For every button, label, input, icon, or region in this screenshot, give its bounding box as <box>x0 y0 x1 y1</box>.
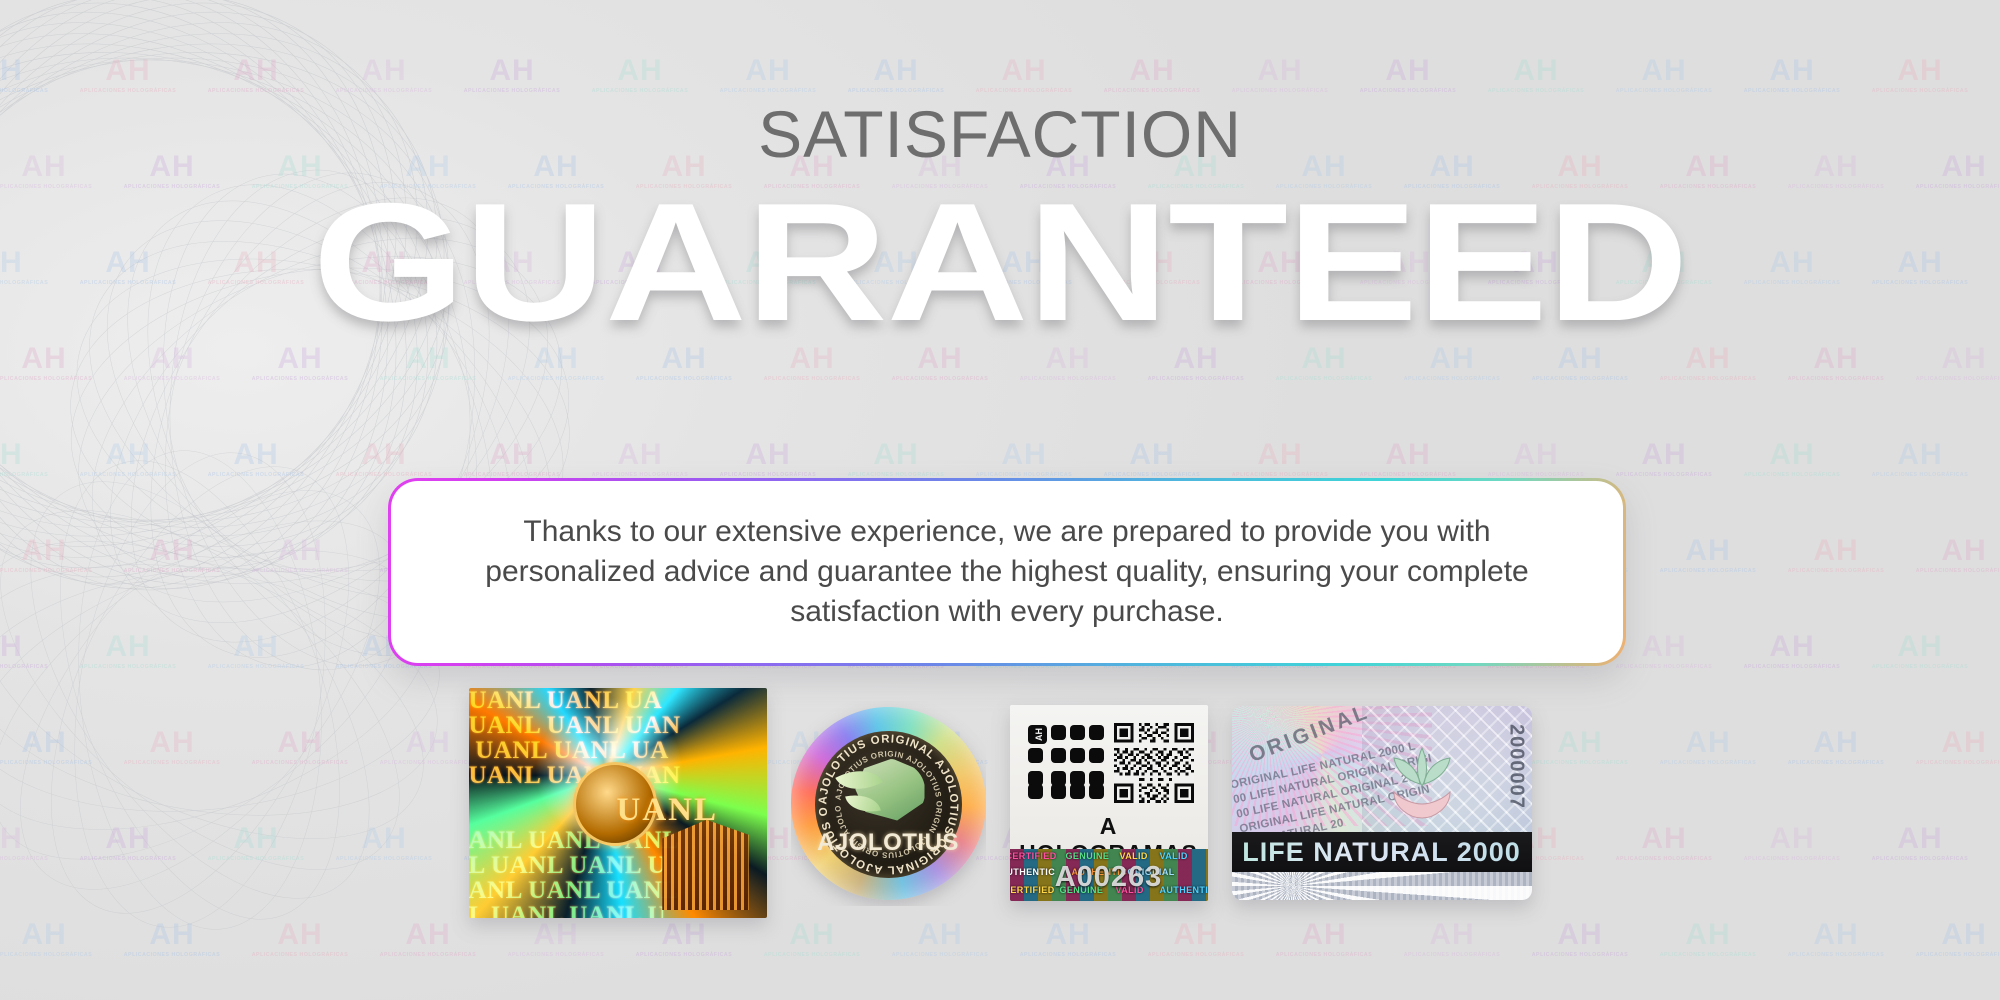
ah-watermark-mark: AH <box>1388 920 1516 950</box>
ah-watermark-caption: APLICACIONES HOLOGRÁFICAS <box>1900 953 2000 958</box>
ah-watermark: AHAPLICACIONES HOLOGRÁFICAS <box>492 920 620 958</box>
ah-watermark-caption: APLICACIONES HOLOGRÁFICAS <box>876 377 1004 382</box>
ah-watermark-caption: APLICACIONES HOLOGRÁFICAS <box>1984 665 2000 670</box>
ah-watermark-caption: APLICACIONES HOLOGRÁFICAS <box>1984 89 2000 94</box>
security-word-3: VALID <box>1160 851 1188 861</box>
ah-watermark-caption: APLICACIONES HOLOGRÁFICAS <box>1728 89 1856 94</box>
ah-watermark-caption: APLICACIONES HOLOGRÁFICAS <box>832 89 960 94</box>
ah-watermark: AHAPLICACIONES HOLOGRÁFICAS <box>1900 536 2000 574</box>
ah-watermark: AHAPLICACIONES HOLOGRÁFICAS <box>236 536 364 574</box>
ah-watermark: AHAPLICACIONES HOLOGRÁFICAS <box>64 440 192 478</box>
ah-watermark-mark: AH <box>1472 440 1600 470</box>
ah-watermark-caption: APLICACIONES HOLOGRÁFICAS <box>1388 953 1516 958</box>
ah-watermark: AHAPLICACIONES HOLOGRÁFICAS <box>108 536 236 574</box>
ah-watermark-mark: AH <box>1984 632 2000 662</box>
ah-watermark-mark: AH <box>0 536 108 566</box>
life-natural-glitter-strip <box>1232 872 1532 900</box>
ah-watermark-mark: AH <box>0 56 64 86</box>
ah-watermark-caption: APLICACIONES HOLOGRÁFICAS <box>748 377 876 382</box>
ah-watermark-caption: APLICACIONES HOLOGRÁFICAS <box>1984 473 2000 478</box>
ah-watermark-caption: APLICACIONES HOLOGRÁFICAS <box>748 953 876 958</box>
ah-watermark: AHAPLICACIONES HOLOGRÁFICAS <box>0 56 64 94</box>
ah-watermark-row: AHAPLICACIONES HOLOGRÁFICASAHAPLICACIONE… <box>0 56 2000 94</box>
ah-watermark-mark: AH <box>1600 440 1728 470</box>
ah-watermark-caption: APLICACIONES HOLOGRÁFICAS <box>1472 89 1600 94</box>
ah-watermark-caption: APLICACIONES HOLOGRÁFICAS <box>1088 89 1216 94</box>
ah-watermark-mark: AH <box>1600 56 1728 86</box>
ah-watermark: AHAPLICACIONES HOLOGRÁFICAS <box>960 440 1088 478</box>
ah-watermark: AHAPLICACIONES HOLOGRÁFICAS <box>1856 440 1984 478</box>
ajolotius-brand-label: AJOLOTIUS <box>791 829 986 857</box>
ah-watermark-mark: AH <box>576 56 704 86</box>
ah-watermark: AHAPLICACIONES HOLOGRÁFICAS <box>876 920 1004 958</box>
ah-watermark: AHAPLICACIONES HOLOGRÁFICAS <box>364 920 492 958</box>
ah-watermark: AHAPLICACIONES HOLOGRÁFICAS <box>320 440 448 478</box>
ah-watermark-caption: APLICACIONES HOLOGRÁFICAS <box>0 665 64 670</box>
ah-watermark-caption: APLICACIONES HOLOGRÁFICAS <box>1856 89 1984 94</box>
ah-watermark-caption: APLICACIONES HOLOGRÁFICAS <box>704 89 832 94</box>
ah-watermark-mark: AH <box>448 56 576 86</box>
ah-watermark-caption: APLICACIONES HOLOGRÁFICAS <box>108 569 236 574</box>
ah-watermark-mark: AH <box>320 56 448 86</box>
ajolotius-hologram[interactable]: AJOLOTIUS ORIGINAL AJOLOTIUS ORIGINAL AJ… <box>791 701 986 906</box>
ah-watermark-mark: AH <box>704 440 832 470</box>
ah-watermark-mark: AH <box>492 920 620 950</box>
uanl-hologram[interactable]: UANL UANL UA UANL UANL UAN UANL UANL UA … <box>469 688 767 918</box>
ah-watermark-caption: APLICACIONES HOLOGRÁFICAS <box>1344 89 1472 94</box>
life-natural-serial: 2000007 <box>1505 724 1528 809</box>
ah-watermark-mark: AH <box>1772 344 1900 374</box>
ah-watermark-mark: AH <box>0 440 64 470</box>
ah-watermark-caption: APLICACIONES HOLOGRÁFICAS <box>108 953 236 958</box>
ah-watermark-mark: AH <box>108 920 236 950</box>
ah-watermark: AHAPLICACIONES HOLOGRÁFICAS <box>1600 440 1728 478</box>
ah-watermark: AHAPLICACIONES HOLOGRÁFICAS <box>1900 920 2000 958</box>
ah-watermark-mark: AH <box>1900 920 2000 950</box>
ah-watermark-mark: AH <box>832 56 960 86</box>
ah-watermark: AHAPLICACIONES HOLOGRÁFICAS <box>448 440 576 478</box>
ah-watermark-caption: APLICACIONES HOLOGRÁFICAS <box>876 953 1004 958</box>
ah-watermark-caption: APLICACIONES HOLOGRÁFICAS <box>236 953 364 958</box>
ah-watermark: AHAPLICACIONES HOLOGRÁFICAS <box>620 920 748 958</box>
ah-watermark: AHAPLICACIONES HOLOGRÁFICAS <box>1984 56 2000 94</box>
ah-watermark-caption: APLICACIONES HOLOGRÁFICAS <box>192 665 320 670</box>
security-word-0: CERTIFIED <box>1010 851 1057 861</box>
ah-watermark: AHAPLICACIONES HOLOGRÁFICAS <box>1728 440 1856 478</box>
ah-watermark-caption: APLICACIONES HOLOGRÁFICAS <box>448 89 576 94</box>
ah-watermark-mark: AH <box>704 56 832 86</box>
ah-watermark-mark: AH <box>0 632 64 662</box>
plant-in-hand-icon <box>1382 740 1462 824</box>
ah-watermark-mark: AH <box>1004 920 1132 950</box>
banner-stage: AHAPLICACIONES HOLOGRÁFICASAHAPLICACIONE… <box>0 0 2000 1000</box>
guarantee-card: Thanks to our extensive experience, we a… <box>388 478 1626 666</box>
ah-watermark-mark: AH <box>748 920 876 950</box>
ah-watermark: AHAPLICACIONES HOLOGRÁFICAS <box>320 56 448 94</box>
ah-watermark: AHAPLICACIONES HOLOGRÁFICAS <box>64 632 192 670</box>
ah-watermark-caption: APLICACIONES HOLOGRÁFICAS <box>192 473 320 478</box>
ah-watermark-caption: APLICACIONES HOLOGRÁFICAS <box>576 89 704 94</box>
ah-watermark-caption: APLICACIONES HOLOGRÁFICAS <box>0 89 64 94</box>
ah-watermark: AHAPLICACIONES HOLOGRÁFICAS <box>1472 440 1600 478</box>
ah-watermark: AHAPLICACIONES HOLOGRÁFICAS <box>0 632 64 670</box>
life-natural-brand-bar: LIFE NATURAL 2000 <box>1232 832 1532 872</box>
ah-watermark-caption: APLICACIONES HOLOGRÁFICAS <box>1772 953 1900 958</box>
ah-watermark: AHAPLICACIONES HOLOGRÁFICAS <box>1856 632 1984 670</box>
a-hologramas-hologram[interactable]: AH <box>1010 705 1208 901</box>
ah-watermark-mark: AH <box>1472 56 1600 86</box>
ah-watermark-mark: AH <box>1260 920 1388 950</box>
ah-watermark: AHAPLICACIONES HOLOGRÁFICAS <box>448 56 576 94</box>
ah-watermark-mark: AH <box>1344 56 1472 86</box>
ah-watermark-mark: AH <box>960 440 1088 470</box>
ah-watermark: AHAPLICACIONES HOLOGRÁFICAS <box>1728 56 1856 94</box>
ah-watermark-caption: APLICACIONES HOLOGRÁFICAS <box>620 377 748 382</box>
ah-watermark-caption: APLICACIONES HOLOGRÁFICAS <box>364 953 492 958</box>
ah-watermark-caption: APLICACIONES HOLOGRÁFICAS <box>64 473 192 478</box>
ah-watermark-mark: AH <box>1900 344 2000 374</box>
ah-watermark: AHAPLICACIONES HOLOGRÁFICAS <box>832 56 960 94</box>
ah-watermark-mark: AH <box>1728 632 1856 662</box>
ah-watermark-caption: APLICACIONES HOLOGRÁFICAS <box>620 953 748 958</box>
ah-watermark-caption: APLICACIONES HOLOGRÁFICAS <box>1260 377 1388 382</box>
ah-watermark-caption: APLICACIONES HOLOGRÁFICAS <box>960 89 1088 94</box>
ah-watermark-caption: APLICACIONES HOLOGRÁFICAS <box>0 473 64 478</box>
ah-watermark: AHAPLICACIONES HOLOGRÁFICAS <box>0 920 108 958</box>
ah-watermark: AHAPLICACIONES HOLOGRÁFICAS <box>1644 536 1772 574</box>
ah-watermark: AHAPLICACIONES HOLOGRÁFICAS <box>1344 440 1472 478</box>
ah-watermark-row: AHAPLICACIONES HOLOGRÁFICASAHAPLICACIONE… <box>0 440 2000 478</box>
ah-watermark-mark: AH <box>876 920 1004 950</box>
ah-watermark-caption: APLICACIONES HOLOGRÁFICAS <box>108 377 236 382</box>
ah-watermark-mark: AH <box>1216 440 1344 470</box>
ah-watermark: AHAPLICACIONES HOLOGRÁFICAS <box>1388 920 1516 958</box>
guarantee-card-text: Thanks to our extensive experience, we a… <box>391 512 1623 632</box>
ah-watermark: AHAPLICACIONES HOLOGRÁFICAS <box>1472 56 1600 94</box>
life-natural-hologram[interactable]: ORIGINAL ORIGINAL LIFE NATURAL 2000 L 00… <box>1232 706 1532 900</box>
ah-watermark-caption: APLICACIONES HOLOGRÁFICAS <box>492 953 620 958</box>
ah-watermark-caption: APLICACIONES HOLOGRÁFICAS <box>64 89 192 94</box>
ah-watermark-mark: AH <box>1856 440 1984 470</box>
ah-watermark-mark: AH <box>1856 56 1984 86</box>
ah-watermark: AHAPLICACIONES HOLOGRÁFICAS <box>1856 56 1984 94</box>
ah-watermark: AHAPLICACIONES HOLOGRÁFICAS <box>192 56 320 94</box>
ah-watermark-caption: APLICACIONES HOLOGRÁFICAS <box>364 377 492 382</box>
ah-watermark-caption: APLICACIONES HOLOGRÁFICAS <box>1600 89 1728 94</box>
security-word-band: CERTIFIED GENUINE VALID VALID AUTHENTIC … <box>1010 849 1208 901</box>
ah-watermark: AHAPLICACIONES HOLOGRÁFICAS <box>1004 920 1132 958</box>
ah-watermark-mark: AH <box>1344 440 1472 470</box>
ah-watermark-mark: AH <box>1772 536 1900 566</box>
main-headline: GUARANTEED <box>0 178 2000 346</box>
ah-watermark-mark: AH <box>1728 56 1856 86</box>
ah-watermark-mark: AH <box>0 344 108 374</box>
eyebrow-heading: SATISFACTION <box>0 96 2000 172</box>
ah-watermark: AHAPLICACIONES HOLOGRÁFICAS <box>1088 440 1216 478</box>
life-natural-brand-label: LIFE NATURAL 2000 <box>1242 837 1521 868</box>
ah-watermark: AHAPLICACIONES HOLOGRÁFICAS <box>1984 632 2000 670</box>
ah-watermark-caption: APLICACIONES HOLOGRÁFICAS <box>1516 953 1644 958</box>
ah-watermark: AHAPLICACIONES HOLOGRÁFICAS <box>192 632 320 670</box>
ah-watermark-caption: APLICACIONES HOLOGRÁFICAS <box>1004 953 1132 958</box>
ah-watermark: AHAPLICACIONES HOLOGRÁFICAS <box>1132 920 1260 958</box>
ah-watermark-caption: APLICACIONES HOLOGRÁFICAS <box>1644 569 1772 574</box>
ah-watermark: AHAPLICACIONES HOLOGRÁFICAS <box>1728 632 1856 670</box>
ah-watermark: AHAPLICACIONES HOLOGRÁFICAS <box>576 56 704 94</box>
ah-watermark-mark: AH <box>1856 632 1984 662</box>
ah-watermark-mark: AH <box>1088 56 1216 86</box>
ah-watermark-caption: APLICACIONES HOLOGRÁFICAS <box>236 569 364 574</box>
ah-watermark-caption: APLICACIONES HOLOGRÁFICAS <box>64 665 192 670</box>
ah-watermark-mark: AH <box>1772 920 1900 950</box>
ah-watermark-mark: AH <box>192 56 320 86</box>
ah-watermark-mark: AH <box>960 56 1088 86</box>
ah-watermark: AHAPLICACIONES HOLOGRÁFICAS <box>1344 56 1472 94</box>
ah-watermark-caption: APLICACIONES HOLOGRÁFICAS <box>1004 377 1132 382</box>
ah-watermark-mark: AH <box>1984 56 2000 86</box>
ah-watermark-caption: APLICACIONES HOLOGRÁFICAS <box>1644 377 1772 382</box>
ah-watermark: AHAPLICACIONES HOLOGRÁFICAS <box>0 440 64 478</box>
ah-watermark: AHAPLICACIONES HOLOGRÁFICAS <box>1772 536 1900 574</box>
ah-watermark: AHAPLICACIONES HOLOGRÁFICAS <box>0 536 108 574</box>
ah-watermark: AHAPLICACIONES HOLOGRÁFICAS <box>64 56 192 94</box>
ah-watermark: AHAPLICACIONES HOLOGRÁFICAS <box>1600 56 1728 94</box>
ah-watermark-mark: AH <box>832 440 960 470</box>
ah-watermark: AHAPLICACIONES HOLOGRÁFICAS <box>1516 920 1644 958</box>
ah-watermark-mark: AH <box>1088 440 1216 470</box>
ah-watermark-caption: APLICACIONES HOLOGRÁFICAS <box>1516 377 1644 382</box>
ah-watermark-mark: AH <box>1216 56 1344 86</box>
ah-watermark-caption: APLICACIONES HOLOGRÁFICAS <box>1900 377 2000 382</box>
ah-watermark-mark: AH <box>448 440 576 470</box>
ah-watermark-caption: APLICACIONES HOLOGRÁFICAS <box>1216 89 1344 94</box>
ah-watermark: AHAPLICACIONES HOLOGRÁFICAS <box>1900 344 2000 382</box>
ah-watermark-caption: APLICACIONES HOLOGRÁFICAS <box>1728 665 1856 670</box>
ah-watermark-caption: APLICACIONES HOLOGRÁFICAS <box>1772 377 1900 382</box>
ah-watermark-caption: APLICACIONES HOLOGRÁFICAS <box>320 89 448 94</box>
ah-watermark-mark: AH <box>320 440 448 470</box>
ah-watermark-caption: APLICACIONES HOLOGRÁFICAS <box>1600 665 1728 670</box>
ah-logo-icon: AH <box>1028 725 1104 799</box>
ah-watermark-caption: APLICACIONES HOLOGRÁFICAS <box>1644 953 1772 958</box>
ah-watermark-caption: APLICACIONES HOLOGRÁFICAS <box>0 569 108 574</box>
ah-watermark-mark: AH <box>1516 920 1644 950</box>
ah-watermark: AHAPLICACIONES HOLOGRÁFICAS <box>1644 920 1772 958</box>
ah-watermark-caption: APLICACIONES HOLOGRÁFICAS <box>1132 377 1260 382</box>
ah-watermark: AHAPLICACIONES HOLOGRÁFICAS <box>832 440 960 478</box>
ah-watermark-caption: APLICACIONES HOLOGRÁFICAS <box>1856 473 1984 478</box>
security-word-1: GENUINE <box>1066 851 1110 861</box>
ah-watermark-mark: AH <box>236 920 364 950</box>
hologram-samples-row: UANL UANL UA UANL UANL UAN UANL UANL UA … <box>0 688 2000 918</box>
ah-watermark-caption: APLICACIONES HOLOGRÁFICAS <box>1260 953 1388 958</box>
ah-watermark-caption: APLICACIONES HOLOGRÁFICAS <box>492 377 620 382</box>
ah-watermark-mark: AH <box>1644 536 1772 566</box>
ah-watermark-caption: APLICACIONES HOLOGRÁFICAS <box>1132 953 1260 958</box>
ah-watermark-caption: APLICACIONES HOLOGRÁFICAS <box>1600 473 1728 478</box>
ah-watermark: AHAPLICACIONES HOLOGRÁFICAS <box>192 440 320 478</box>
ah-watermark: AHAPLICACIONES HOLOGRÁFICAS <box>0 344 108 382</box>
ah-watermark-mark: AH <box>64 440 192 470</box>
ah-watermark: AHAPLICACIONES HOLOGRÁFICAS <box>960 56 1088 94</box>
ah-watermark-caption: APLICACIONES HOLOGRÁFICAS <box>1388 377 1516 382</box>
ah-watermark-mark: AH <box>1132 920 1260 950</box>
ah-watermark-caption: APLICACIONES HOLOGRÁFICAS <box>0 377 108 382</box>
ah-watermark-mark: AH <box>64 56 192 86</box>
ah-watermark-mark: AH <box>1728 440 1856 470</box>
ah-watermark-caption: APLICACIONES HOLOGRÁFICAS <box>1900 569 2000 574</box>
ah-watermark: AHAPLICACIONES HOLOGRÁFICAS <box>108 920 236 958</box>
ah-watermark: AHAPLICACIONES HOLOGRÁFICAS <box>748 920 876 958</box>
ah-watermark-caption: APLICACIONES HOLOGRÁFICAS <box>192 89 320 94</box>
ah-watermark: AHAPLICACIONES HOLOGRÁFICAS <box>576 440 704 478</box>
guarantee-card-inner: Thanks to our extensive experience, we a… <box>391 481 1623 663</box>
security-word-2: VALID <box>1120 851 1148 861</box>
ah-watermark: AHAPLICACIONES HOLOGRÁFICAS <box>1216 56 1344 94</box>
ah-watermark-mark: AH <box>64 632 192 662</box>
ah-watermark: AHAPLICACIONES HOLOGRÁFICAS <box>1984 440 2000 478</box>
ah-watermark: AHAPLICACIONES HOLOGRÁFICAS <box>704 56 832 94</box>
ah-watermark: AHAPLICACIONES HOLOGRÁFICAS <box>108 344 236 382</box>
ah-watermark-mark: AH <box>364 920 492 950</box>
ah-watermark-mark: AH <box>1644 920 1772 950</box>
ah-watermark-mark: AH <box>108 536 236 566</box>
ah-watermark-caption: APLICACIONES HOLOGRÁFICAS <box>1728 473 1856 478</box>
ah-watermark-row: AHAPLICACIONES HOLOGRÁFICASAHAPLICACIONE… <box>0 920 2000 958</box>
ah-watermark-caption: APLICACIONES HOLOGRÁFICAS <box>1856 665 1984 670</box>
ah-watermark: AHAPLICACIONES HOLOGRÁFICAS <box>1088 56 1216 94</box>
ah-watermark: AHAPLICACIONES HOLOGRÁFICAS <box>704 440 832 478</box>
ah-watermark-mark: AH <box>236 536 364 566</box>
ah-watermark-caption: APLICACIONES HOLOGRÁFICAS <box>1772 569 1900 574</box>
ah-watermark: AHAPLICACIONES HOLOGRÁFICAS <box>1772 344 1900 382</box>
a-hologramas-serial: A00263 <box>1010 861 1208 894</box>
ah-watermark-mark: AH <box>620 920 748 950</box>
ah-watermark-mark: AH <box>192 440 320 470</box>
ah-watermark-mark: AH <box>1984 440 2000 470</box>
ah-watermark-mark: AH <box>576 440 704 470</box>
qr-code-icon <box>1114 723 1194 803</box>
ah-watermark: AHAPLICACIONES HOLOGRÁFICAS <box>1772 920 1900 958</box>
ah-watermark-mark: AH <box>0 920 108 950</box>
ah-watermark-mark: AH <box>1900 536 2000 566</box>
ah-watermark: AHAPLICACIONES HOLOGRÁFICAS <box>1260 920 1388 958</box>
svg-text:AH: AH <box>1034 728 1044 741</box>
ah-watermark: AHAPLICACIONES HOLOGRÁFICAS <box>236 920 364 958</box>
ah-watermark-caption: APLICACIONES HOLOGRÁFICAS <box>236 377 364 382</box>
ah-watermark: AHAPLICACIONES HOLOGRÁFICAS <box>1216 440 1344 478</box>
ah-watermark-mark: AH <box>108 344 236 374</box>
ah-watermark-caption: APLICACIONES HOLOGRÁFICAS <box>0 953 108 958</box>
ah-watermark-mark: AH <box>192 632 320 662</box>
